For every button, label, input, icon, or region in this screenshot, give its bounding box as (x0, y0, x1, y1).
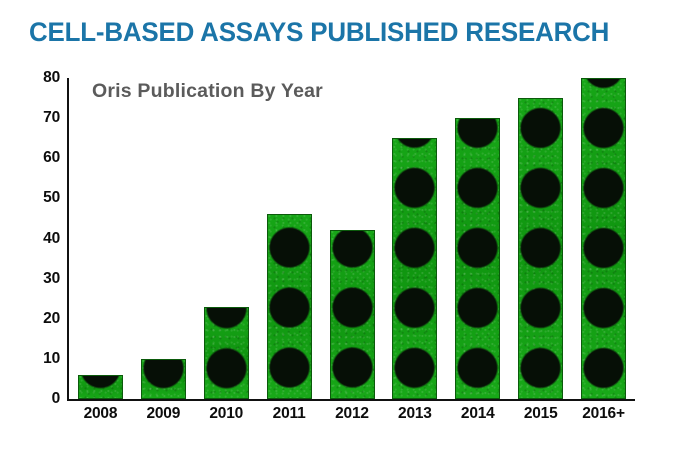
bar-slot (392, 78, 437, 399)
bar-slot (518, 78, 563, 399)
bar-2013 (392, 138, 437, 399)
bar-slot (330, 78, 375, 399)
bar-slot (455, 78, 500, 399)
bar-2014 (455, 118, 500, 399)
y-axis-tick-50: 50 (24, 189, 60, 207)
x-axis-tick-2009: 2009 (132, 405, 195, 423)
x-axis-tick-2013: 2013 (383, 405, 446, 423)
x-axis-tick-2016plus: 2016+ (572, 405, 635, 423)
bar-2010 (204, 307, 249, 399)
x-axis-tick-2015: 2015 (509, 405, 572, 423)
bar-slot (78, 78, 123, 399)
y-axis-tick-30: 30 (24, 270, 60, 288)
chart-page: CELL-BASED ASSAYS PUBLISHED RESEARCH Ori… (0, 0, 700, 465)
y-axis-tick-10: 10 (24, 350, 60, 368)
bar-slot (581, 78, 626, 399)
bar-slot (204, 78, 249, 399)
bar-slot (267, 78, 312, 399)
bar-2012 (330, 230, 375, 399)
bar-series (69, 78, 635, 399)
y-axis-tick-60: 60 (24, 149, 60, 167)
y-axis-tick-0: 0 (24, 390, 60, 408)
x-axis-tick-2011: 2011 (258, 405, 321, 423)
chart-plot-area: Oris Publication By Year 010203040506070… (0, 0, 700, 465)
x-axis-tick-2012: 2012 (321, 405, 384, 423)
bar-2015 (518, 98, 563, 399)
bar-2011 (267, 214, 312, 399)
y-axis-tick-80: 80 (24, 69, 60, 87)
y-axis-tick-20: 20 (24, 310, 60, 328)
x-axis-tick-labels: 200820092010201120122013201420152016+ (69, 405, 635, 429)
bar-slot (141, 78, 186, 399)
x-axis-tick-2008: 2008 (69, 405, 132, 423)
bar-2008 (78, 375, 123, 399)
x-axis-tick-2014: 2014 (446, 405, 509, 423)
bar-2016plus (581, 78, 626, 399)
x-axis-tick-2010: 2010 (195, 405, 258, 423)
bar-2009 (141, 359, 186, 399)
y-axis-tick-40: 40 (24, 230, 60, 248)
y-axis-tick-labels: 01020304050607080 (24, 0, 60, 465)
x-axis-line (67, 399, 635, 401)
y-axis-tick-70: 70 (24, 109, 60, 127)
